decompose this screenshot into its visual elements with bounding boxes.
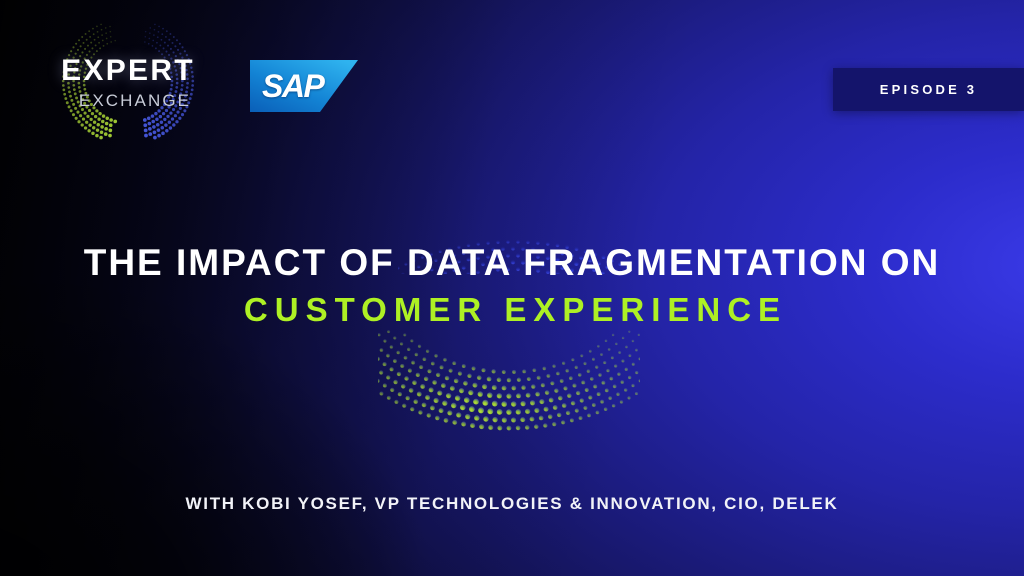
slide-title-block: THE IMPACT OF DATA FRAGMENTATION ON CUST… <box>0 240 1024 332</box>
episode-label: EPISODE 3 <box>880 82 977 97</box>
page-title-primary: THE IMPACT OF DATA FRAGMENTATION ON <box>0 240 1024 286</box>
expert-exchange-logo: EXPERT EXCHANGE <box>48 22 208 140</box>
sap-logo: SAP <box>250 60 358 112</box>
logo-line-expert: EXPERT <box>48 56 208 86</box>
page-title-highlight: CUSTOMER EXPERIENCE <box>0 288 1024 332</box>
episode-badge: EPISODE 3 <box>833 68 1024 111</box>
speaker-credit: WITH KOBI YOSEF, VP TECHNOLOGIES & INNOV… <box>0 494 1024 514</box>
expert-exchange-wordmark: EXPERT EXCHANGE <box>48 56 208 109</box>
sap-wordmark: SAP <box>262 68 323 104</box>
presentation-slide: EXPERT EXCHANGE SAP EPISODE 3 THE IMPACT… <box>0 0 1024 576</box>
logo-line-exchange: EXCHANGE <box>48 92 208 109</box>
